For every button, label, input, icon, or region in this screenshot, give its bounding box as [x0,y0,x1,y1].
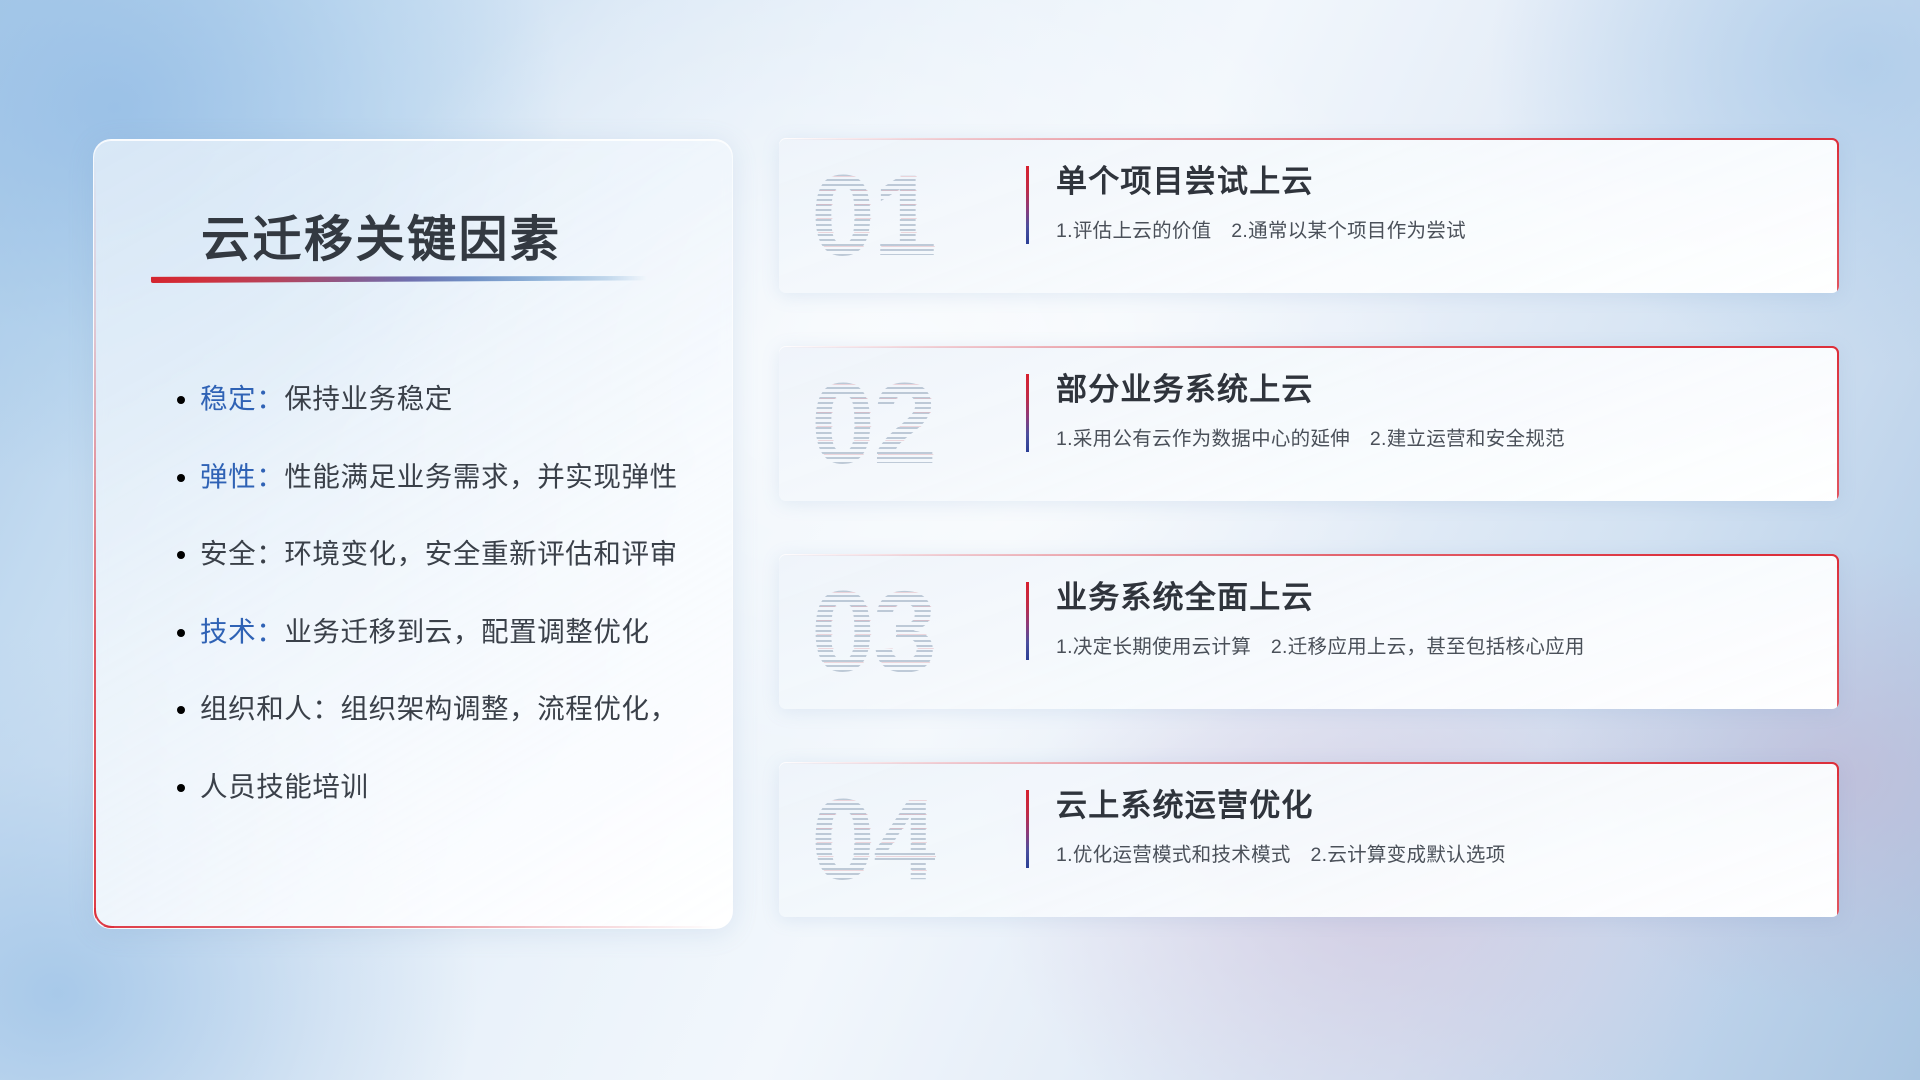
card-top-accent-line [779,762,1839,764]
card-top-right-corner-accent [1825,346,1839,360]
stage-card[interactable]: 04云上系统运营优化1.优化运营模式和技术模式 2.云计算变成默认选项 [779,762,1839,917]
title-underline-gradient [151,276,647,283]
card-top-accent-line [779,346,1839,348]
stage-number-watermark: 02 [811,346,935,501]
key-factor-label: 安全： [200,538,284,569]
card-divider-line [1026,166,1029,244]
key-factor-text: 人员技能培训 [200,771,369,802]
key-factor-label: 弹性： [200,461,284,492]
card-right-accent-line [1837,554,1839,709]
card-top-accent-line [779,554,1839,556]
card-top-right-corner-accent [1825,762,1839,776]
stage-number-watermark: 01 [811,138,935,293]
key-factor-text: 业务迁移到云，配置调整优化 [284,616,649,647]
card-body: 单个项目尝试上云1.评估上云的价值 2.通常以某个项目作为尝试 [1056,165,1813,243]
key-factor-label: 技术： [200,616,284,647]
stage-description: 1.决定长期使用云计算 2.迁移应用上云，甚至包括核心应用 [1056,630,1813,659]
stage-title: 部分业务系统上云 [1056,373,1813,406]
stage-description: 1.优化运营模式和技术模式 2.云计算变成默认选项 [1056,838,1813,867]
cloud-migration-stages: 01单个项目尝试上云1.评估上云的价值 2.通常以某个项目作为尝试02部分业务系… [779,138,1839,917]
card-top-right-corner-accent [1825,138,1839,152]
card-divider-line [1026,790,1029,868]
key-factor-item: 技术：业务迁移到云，配置调整优化 [200,618,692,646]
stage-title: 云上系统运营优化 [1056,789,1813,822]
panel-bottom-accent-line [93,926,718,928]
key-factor-label: 稳定： [200,383,284,414]
key-factor-text: 性能满足业务需求，并实现弹性 [284,461,677,492]
stage-title: 业务系统全面上云 [1056,581,1813,614]
stage-description: 1.采用公有云作为数据中心的延伸 2.建立运营和安全规范 [1056,422,1813,451]
key-factor-text: 组织架构调整，流程优化， [341,693,678,724]
stage-number-watermark: 03 [811,554,935,709]
key-factors-panel: 云迁移关键因素 稳定：保持业务稳定弹性：性能满足业务需求，并实现弹性安全：环境变… [93,139,733,929]
stage-number-watermark: 04 [811,762,935,917]
title-underline-rule [151,276,647,283]
key-factor-item: 稳定：保持业务稳定 [200,385,692,413]
stage-card[interactable]: 01单个项目尝试上云1.评估上云的价值 2.通常以某个项目作为尝试 [779,138,1839,293]
page-title: 云迁移关键因素 [201,200,562,271]
card-right-accent-line [1837,138,1839,293]
card-body: 部分业务系统上云1.采用公有云作为数据中心的延伸 2.建立运营和安全规范 [1056,373,1813,451]
stage-card[interactable]: 03业务系统全面上云1.决定长期使用云计算 2.迁移应用上云，甚至包括核心应用 [779,554,1839,709]
card-right-accent-line [1837,762,1839,917]
key-factor-item: 组织和人：组织架构调整，流程优化， [200,695,692,723]
key-factor-text: 环境变化，安全重新评估和评审 [284,538,677,569]
card-right-accent-line [1837,346,1839,501]
key-factor-item: 安全：环境变化，安全重新评估和评审 [200,540,692,568]
card-divider-line [1026,582,1029,660]
key-factor-item: 弹性：性能满足业务需求，并实现弹性 [200,463,692,491]
key-factor-item: 人员技能培训 [200,773,692,801]
stage-description: 1.评估上云的价值 2.通常以某个项目作为尝试 [1056,214,1813,243]
key-factor-text: 保持业务稳定 [284,383,453,414]
key-factor-label: 组织和人： [200,693,341,724]
panel-bottom-left-corner-accent [94,908,114,928]
card-top-right-corner-accent [1825,554,1839,568]
card-divider-line [1026,374,1029,452]
card-body: 业务系统全面上云1.决定长期使用云计算 2.迁移应用上云，甚至包括核心应用 [1056,581,1813,659]
key-factors-list: 稳定：保持业务稳定弹性：性能满足业务需求，并实现弹性安全：环境变化，安全重新评估… [200,385,692,800]
stage-card[interactable]: 02部分业务系统上云1.采用公有云作为数据中心的延伸 2.建立运营和安全规范 [779,346,1839,501]
card-top-accent-line [779,138,1839,140]
panel-left-accent-line [94,156,96,929]
card-body: 云上系统运营优化1.优化运营模式和技术模式 2.云计算变成默认选项 [1056,789,1813,867]
stage-title: 单个项目尝试上云 [1056,165,1813,198]
slide-stage: 云迁移关键因素 稳定：保持业务稳定弹性：性能满足业务需求，并实现弹性安全：环境变… [0,0,1920,1080]
